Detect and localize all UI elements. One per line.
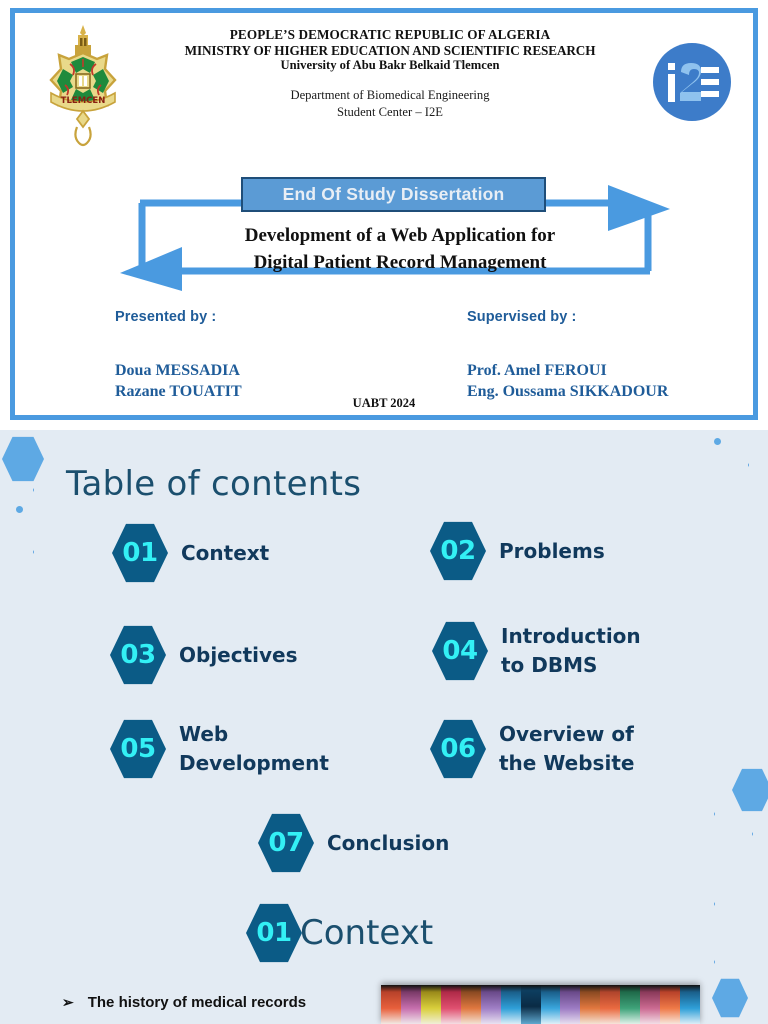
context-bullet-text: The history of medical records (88, 994, 306, 1011)
decorative-dot (714, 438, 721, 445)
decorative-hexagon-outline (0, 456, 34, 524)
toc-item-07[interactable]: 07 Conclusion (258, 812, 449, 874)
slide-footer: UABT 2024 (15, 396, 753, 411)
context-bullet-item: ➢ The history of medical records (62, 994, 306, 1011)
university-emblem-icon: TLEMCEN (37, 23, 129, 148)
hexagon-number-icon: 04 (432, 620, 488, 682)
hexagon-number-icon: 01 (112, 522, 168, 584)
header-line-country: PEOPLE’S DEMOCRATIC REPUBLIC OF ALGERIA (125, 27, 655, 43)
toc-item-05[interactable]: 05 Web Development (110, 718, 329, 780)
toc-number: 05 (120, 734, 155, 764)
title-slide: TLEMCEN PEOPLE’S DEMOCRATIC REPUBLIC OF … (0, 0, 768, 428)
folders-strip (381, 985, 700, 1024)
toc-number: 04 (442, 636, 477, 666)
header-line-university: University of Abu Bakr Belkaid Tlemcen (125, 58, 655, 73)
presented-by-label: Presented by : (115, 309, 242, 325)
svg-text:TLEMCEN: TLEMCEN (61, 96, 106, 106)
header-line-center: Student Center – I2E (125, 104, 655, 121)
supervised-by-block: Supervised by : Prof. Amel FEROUI Eng. O… (467, 309, 668, 403)
toc-label: Problems (499, 537, 605, 566)
thesis-title-line-1: Development of a Web Application for (165, 223, 635, 250)
table-of-contents-slide: Table of contents 01 Context 02 Problems… (0, 430, 768, 890)
toc-label: Web Development (179, 720, 329, 778)
dissertation-type-badge: End Of Study Dissertation (241, 177, 546, 212)
toc-number: 03 (120, 640, 155, 670)
decorative-hexagon-solid (2, 436, 44, 482)
toc-label: Overview of the Website (499, 720, 634, 778)
context-title: Context (300, 913, 433, 953)
hexagon-number-icon: 07 (258, 812, 314, 874)
presented-by-block: Presented by : Doua MESSADIA Razane TOUA… (115, 309, 242, 403)
thesis-title: Development of a Web Application for Dig… (165, 223, 635, 277)
toc-number: 06 (440, 734, 475, 764)
context-heading: 01 Context (246, 902, 433, 964)
decorative-hexagon-outline (714, 930, 768, 994)
hexagon-number-icon: 03 (110, 624, 166, 686)
toc-number: 07 (268, 828, 303, 858)
toc-item-06[interactable]: 06 Overview of the Website (430, 718, 634, 780)
hexagon-number-icon: 01 (246, 902, 302, 964)
decorative-hexagon-outline (714, 890, 768, 936)
decorative-hexagon-outline (748, 432, 768, 498)
i2e-logo-icon (651, 41, 733, 123)
toc-number: 01 (122, 538, 157, 568)
toc-item-02[interactable]: 02 Problems (430, 520, 605, 582)
file-folders-image (381, 985, 700, 1024)
decorative-hexagon-solid (712, 978, 748, 1018)
context-number: 01 (256, 918, 291, 948)
toc-label: Introduction to DBMS (501, 622, 641, 680)
thesis-title-line-2: Digital Patient Record Management (165, 250, 635, 277)
toc-number: 02 (440, 536, 475, 566)
supervised-by-label: Supervised by : (467, 309, 668, 325)
toc-item-01[interactable]: 01 Context (112, 522, 269, 584)
toc-list: 01 Context 02 Problems 03 Objectives 04 … (0, 522, 768, 852)
toc-item-03[interactable]: 03 Objectives (110, 624, 298, 686)
hexagon-number-icon: 02 (430, 520, 486, 582)
toc-label: Conclusion (327, 829, 449, 858)
hexagon-number-icon: 06 (430, 718, 486, 780)
title-slide-frame: TLEMCEN PEOPLE’S DEMOCRATIC REPUBLIC OF … (10, 8, 758, 420)
institution-header: PEOPLE’S DEMOCRATIC REPUBLIC OF ALGERIA … (125, 27, 655, 121)
toc-item-04[interactable]: 04 Introduction to DBMS (432, 620, 641, 682)
toc-heading: Table of contents (66, 464, 361, 504)
hexagon-number-icon: 05 (110, 718, 166, 780)
toc-label: Objectives (179, 641, 298, 670)
decorative-dot (16, 506, 23, 513)
bullet-arrow-icon: ➢ (62, 994, 74, 1011)
header-line-department: Department of Biomedical Engineering (125, 87, 655, 104)
header-line-ministry: MINISTRY OF HIGHER EDUCATION AND SCIENTI… (125, 43, 655, 59)
toc-label: Context (181, 539, 269, 568)
